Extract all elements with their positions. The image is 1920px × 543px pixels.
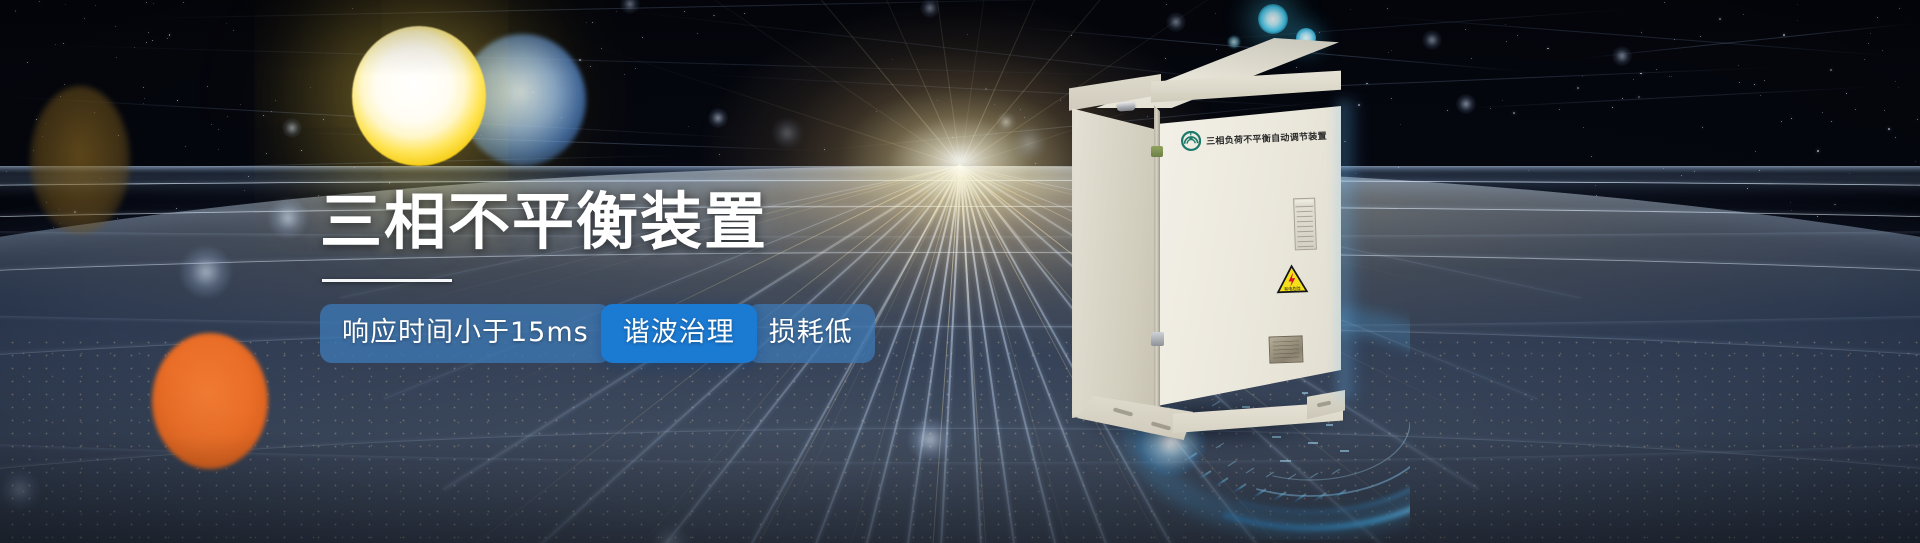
- bokeh-orange-orb: [152, 333, 268, 469]
- star: [152, 40, 153, 41]
- star: [226, 23, 227, 24]
- star: [1764, 80, 1765, 81]
- star: [1391, 50, 1392, 51]
- star: [227, 116, 228, 117]
- bokeh-amber-orb: [30, 86, 130, 234]
- hero-copy: 三相不平衡装置 响应时间小于15ms谐波治理损耗低: [320, 190, 875, 363]
- star: [1502, 100, 1503, 101]
- star: [1388, 52, 1389, 53]
- star: [116, 57, 117, 58]
- star: [1864, 59, 1865, 60]
- cabinet-latch: [1151, 332, 1164, 346]
- star: [1656, 69, 1657, 70]
- feature-badge-3[interactable]: 损耗低: [747, 304, 875, 363]
- star: [1884, 110, 1885, 111]
- constellation-node: [1422, 30, 1442, 50]
- cabinet-rating-plate: [1269, 335, 1304, 363]
- lens-flare-4: [908, 418, 952, 462]
- star: [1817, 150, 1819, 152]
- star: [1899, 8, 1900, 9]
- star: [1822, 112, 1823, 113]
- star: [1671, 76, 1672, 77]
- lens-flare-2: [268, 198, 308, 238]
- star: [1755, 151, 1756, 152]
- page-title: 三相不平衡装置: [320, 190, 875, 253]
- star: [1739, 82, 1740, 83]
- star: [1882, 50, 1883, 51]
- star: [27, 62, 28, 63]
- star: [1471, 58, 1472, 59]
- star: [352, 8, 353, 9]
- star: [1622, 98, 1623, 99]
- constellation-node: [1612, 46, 1632, 66]
- star: [1591, 156, 1592, 157]
- star: [1517, 35, 1518, 36]
- star: [143, 87, 144, 88]
- star: [95, 5, 96, 6]
- company-logo-icon: [1181, 131, 1202, 152]
- cabinet-brand-text: 三相负荷不平衡自动调节装置: [1206, 128, 1327, 146]
- star: [1797, 20, 1798, 21]
- star: [1664, 2, 1665, 3]
- star: [1547, 48, 1549, 50]
- star: [1760, 95, 1762, 97]
- product-cabinet: 三相负荷不平衡自动调节装置 有电危险: [1055, 18, 1355, 438]
- star: [1400, 124, 1401, 125]
- star: [15, 10, 17, 12]
- star: [1888, 128, 1890, 130]
- cabinet-roof-side: [1069, 74, 1161, 114]
- star: [1700, 36, 1701, 37]
- cabinet-vent-cap: [1295, 200, 1313, 208]
- warning-sticker-text: 有电危险: [1284, 285, 1302, 292]
- star: [64, 84, 65, 85]
- electrical-hazard-sticker: 有电危险: [1275, 263, 1308, 294]
- feature-badge-1[interactable]: 响应时间小于15ms: [320, 304, 611, 363]
- star: [146, 2, 147, 3]
- star: [1490, 108, 1491, 109]
- star: [1506, 41, 1507, 42]
- lens-flare-6: [1012, 126, 1046, 160]
- star: [1791, 118, 1792, 119]
- star: [144, 98, 145, 99]
- star: [84, 18, 85, 19]
- star: [1917, 119, 1918, 120]
- star: [323, 119, 324, 120]
- star: [266, 153, 267, 154]
- star: [39, 1, 40, 2]
- star: [1702, 127, 1703, 128]
- star: [1391, 98, 1392, 99]
- star: [1577, 87, 1579, 89]
- star: [207, 86, 208, 87]
- cabinet-lock-icon: [1117, 101, 1136, 111]
- star: [1633, 79, 1634, 80]
- star: [1754, 84, 1755, 85]
- star: [1582, 76, 1583, 77]
- star: [1895, 81, 1896, 82]
- star: [1895, 137, 1896, 138]
- lens-flare-7: [772, 118, 802, 148]
- star: [1797, 4, 1798, 5]
- star: [1743, 14, 1744, 15]
- bokeh-yellow-orb: [352, 26, 486, 166]
- star: [1641, 32, 1642, 33]
- star: [1868, 43, 1869, 44]
- star: [1513, 112, 1515, 114]
- star: [1831, 121, 1832, 122]
- star: [1898, 87, 1899, 88]
- star: [148, 32, 149, 33]
- star: [1387, 8, 1388, 9]
- feature-badge-2[interactable]: 谐波治理: [601, 304, 757, 363]
- star: [1738, 65, 1739, 66]
- cabinet-side-panel: [1072, 102, 1160, 418]
- feature-badge-row: 响应时间小于15ms谐波治理损耗低: [320, 304, 875, 363]
- star: [1350, 9, 1351, 10]
- star: [275, 100, 276, 101]
- cabinet-hinge-upper: [1151, 146, 1163, 157]
- star: [1830, 69, 1832, 71]
- star: [263, 115, 264, 116]
- star: [1915, 161, 1916, 162]
- title-divider: [322, 279, 452, 282]
- star: [310, 87, 311, 88]
- star: [65, 4, 66, 5]
- star: [233, 30, 234, 31]
- star: [1358, 104, 1360, 106]
- warning-triangle-icon: 有电危险: [1275, 263, 1308, 294]
- star: [1719, 18, 1721, 20]
- star: [1447, 110, 1448, 111]
- constellation-node: [282, 118, 302, 138]
- star: [1846, 93, 1847, 94]
- star: [240, 104, 241, 105]
- star: [1612, 107, 1613, 108]
- star: [1877, 17, 1878, 18]
- lens-flare-8: [0, 470, 40, 510]
- star: [1855, 109, 1856, 110]
- star: [218, 129, 219, 130]
- star: [1583, 127, 1584, 128]
- star: [1781, 121, 1782, 122]
- star: [301, 150, 302, 151]
- constellation-node: [1456, 94, 1476, 114]
- star: [183, 2, 184, 3]
- star: [115, 26, 116, 27]
- star: [1870, 33, 1871, 34]
- star: [167, 38, 168, 39]
- star: [169, 34, 171, 36]
- star: [63, 43, 64, 44]
- hero-banner: 三相不平衡装置 响应时间小于15ms谐波治理损耗低: [0, 0, 1920, 543]
- star: [218, 149, 219, 150]
- star: [153, 3, 154, 4]
- cabinet-vent-grille: [1293, 198, 1317, 251]
- star: [185, 146, 186, 147]
- star: [146, 42, 147, 43]
- star: [1465, 29, 1466, 30]
- star: [211, 124, 212, 125]
- star: [177, 100, 178, 101]
- star: [1559, 109, 1560, 110]
- lens-flare-1: [180, 246, 232, 298]
